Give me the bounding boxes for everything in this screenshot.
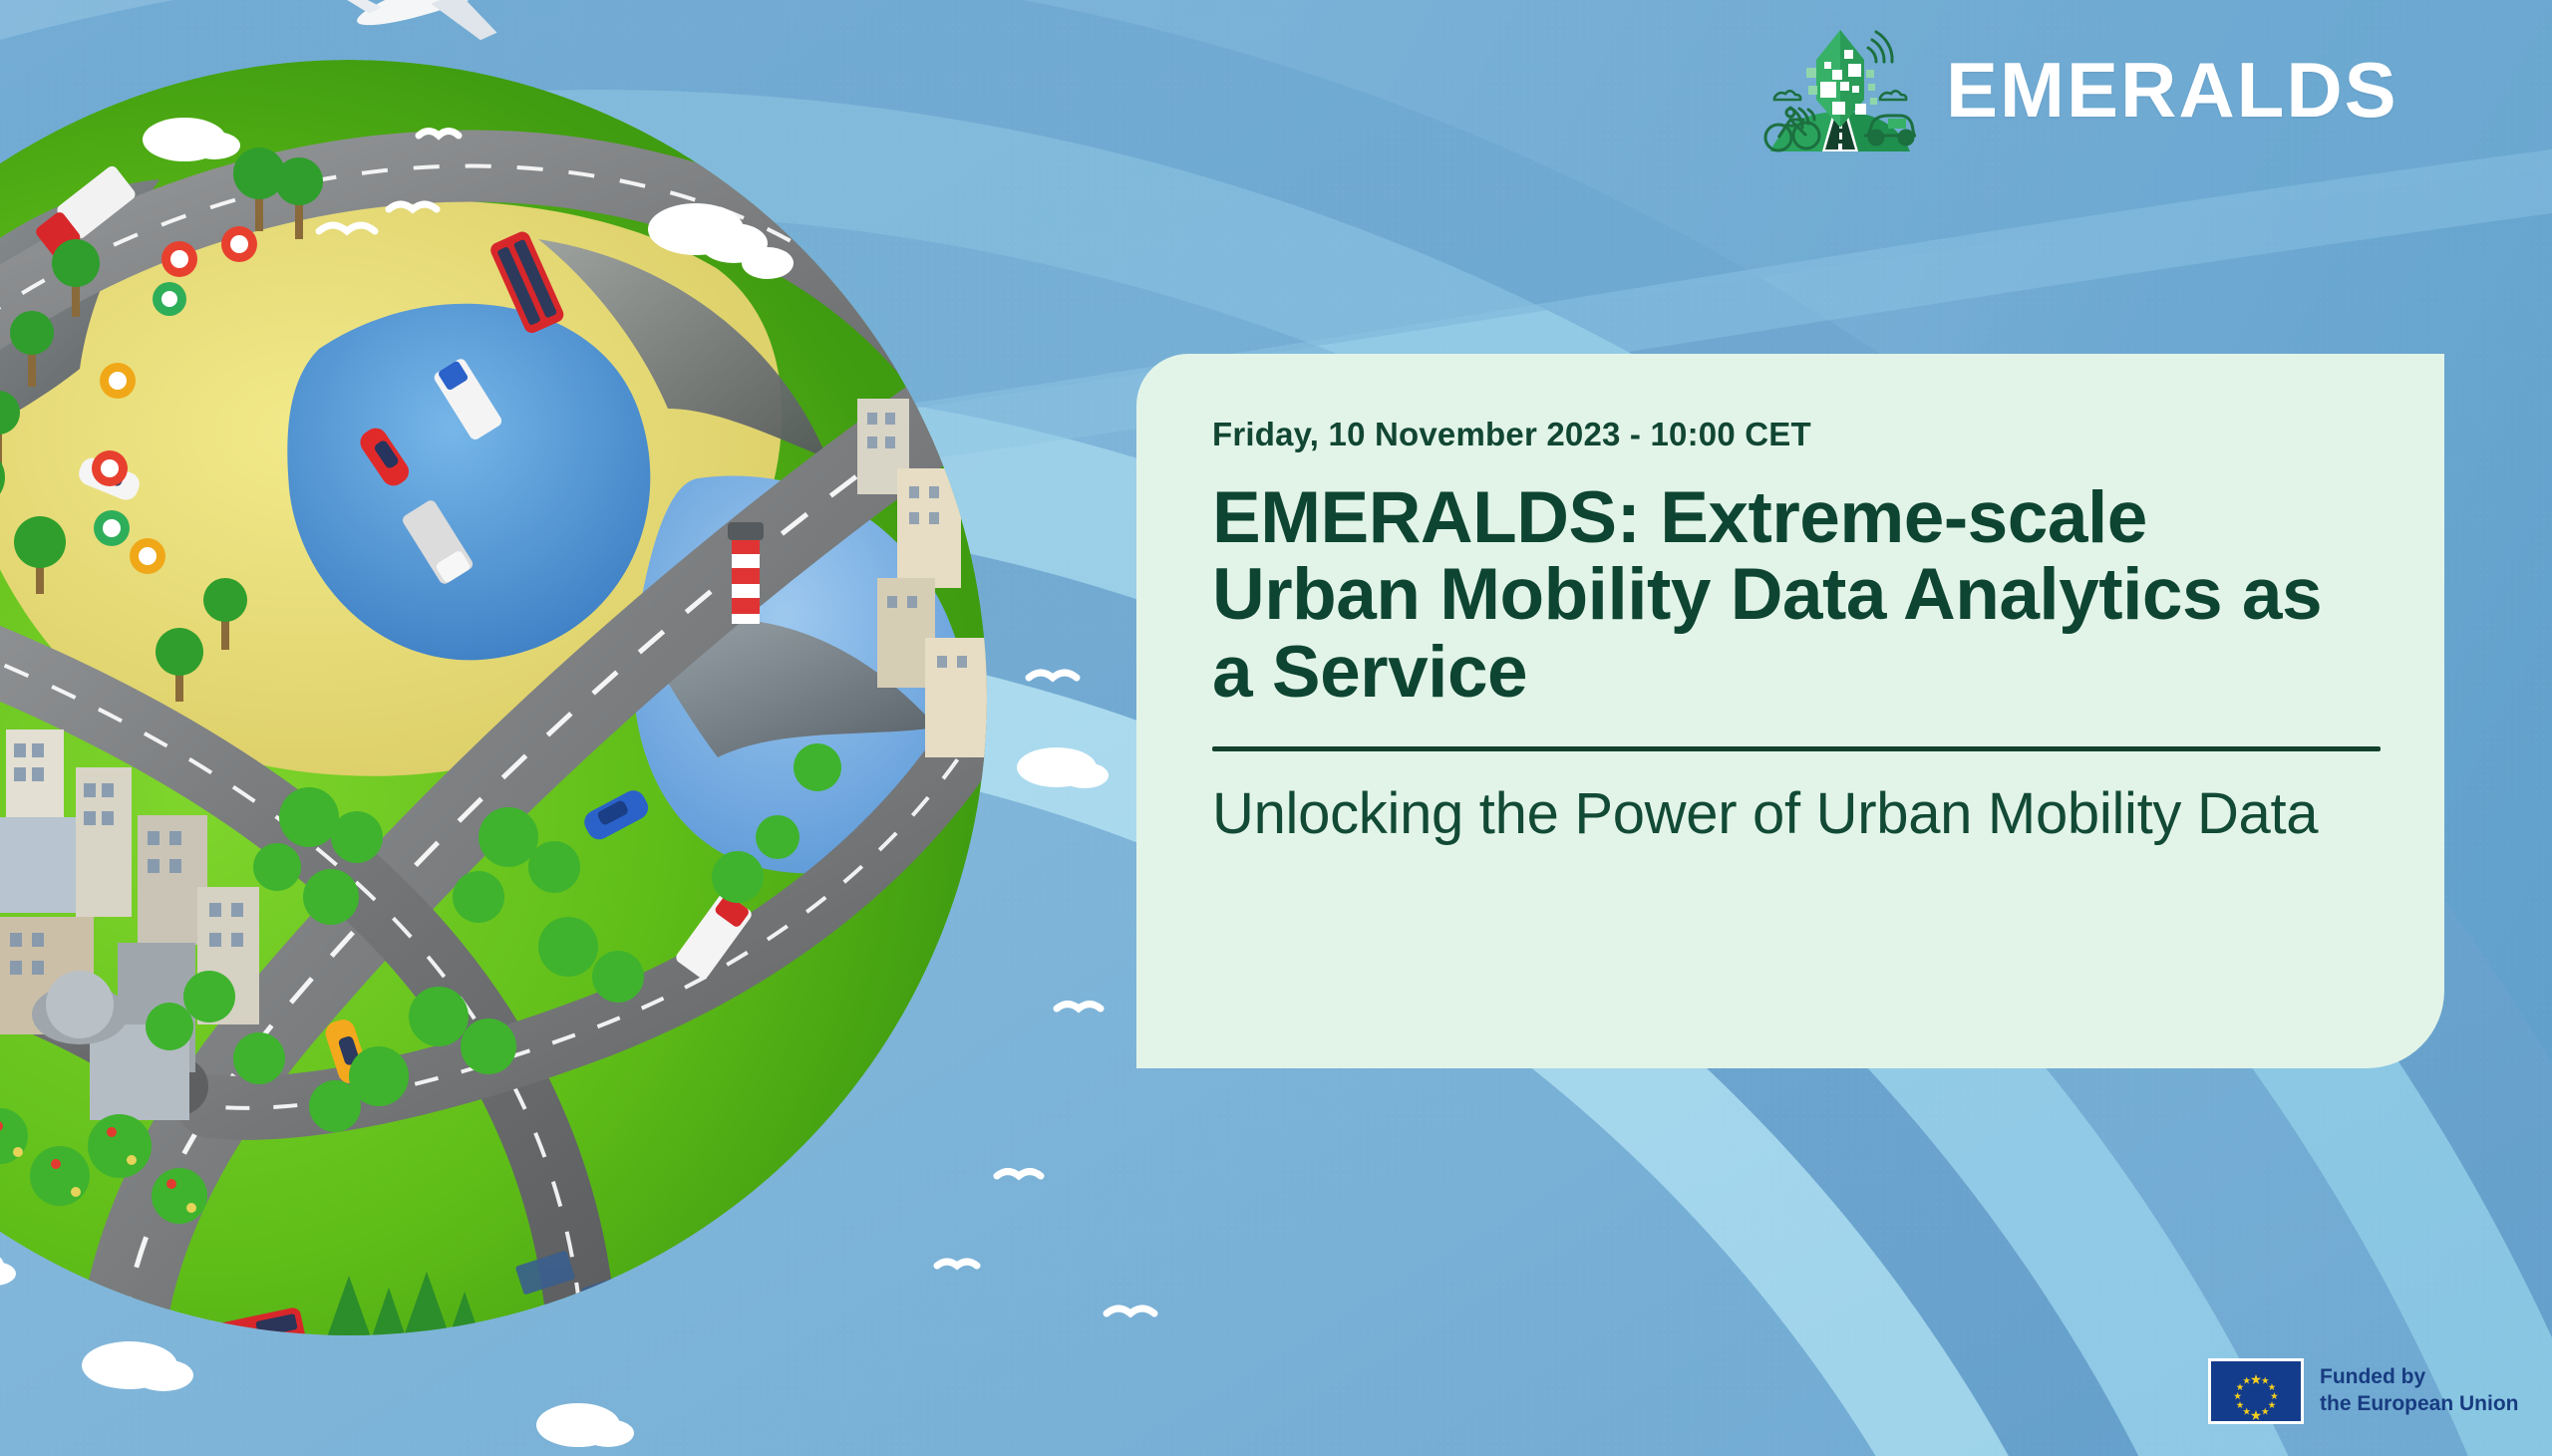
emeralds-gem-road-mobility-logo-icon xyxy=(1760,20,1920,159)
event-info-card: Friday, 10 November 2023 - 10:00 CET EME… xyxy=(1136,354,2444,1068)
urban-mobility-globe-illustration xyxy=(0,0,1176,1456)
title-divider xyxy=(1212,746,2381,751)
eu-funding-text: Funded by the European Union xyxy=(2320,1364,2519,1418)
eu-funding-badge: Funded by the European Union xyxy=(2208,1358,2519,1424)
european-union-flag-icon xyxy=(2208,1358,2304,1424)
eu-funding-line-2: the European Union xyxy=(2320,1391,2519,1418)
event-datetime: Friday, 10 November 2023 - 10:00 CET xyxy=(1212,416,2373,453)
emeralds-logo[interactable]: EMERALDS xyxy=(1760,20,2398,159)
event-subtitle: Unlocking the Power of Urban Mobility Da… xyxy=(1212,781,2329,847)
emeralds-wordmark: EMERALDS xyxy=(1946,51,2398,129)
banner-canvas: EMERALDS Friday, 10 November 2023 - 10:0… xyxy=(0,0,2552,1456)
event-title: EMERALDS: Extreme-scale Urban Mobility D… xyxy=(1212,479,2373,711)
eu-funding-line-1: Funded by xyxy=(2320,1364,2519,1391)
